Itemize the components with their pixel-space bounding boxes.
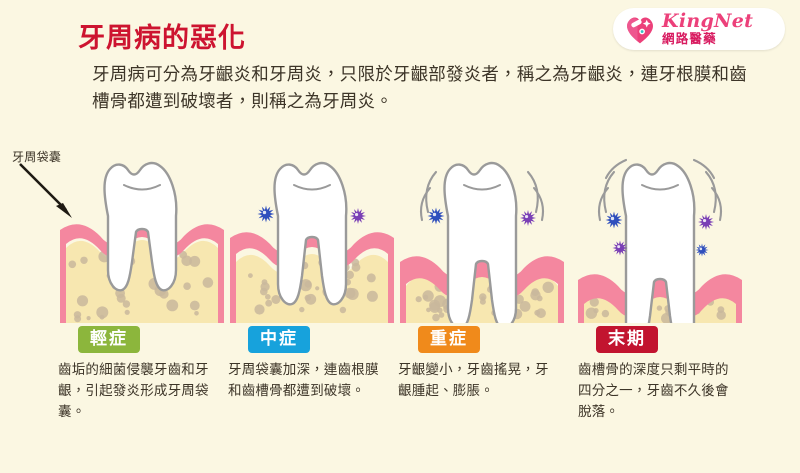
stage-mild: 輕症齒垢的細菌侵襲牙齒和牙齦，引起發炎形成牙周袋囊。 bbox=[52, 138, 232, 468]
logo-subtitle: 網路醫藥 bbox=[662, 33, 753, 46]
tooth-diagram-mild bbox=[52, 138, 232, 323]
tooth-diagram-moderate bbox=[222, 138, 402, 323]
stage-severe: 重症牙齦變小，牙齒搖晃，牙齦腫起、膨脹。 bbox=[392, 138, 572, 468]
stage-caption-moderate: 牙周袋囊加深，連齒根膜和齒槽骨都遭到破壞。 bbox=[228, 360, 383, 402]
stage-moderate: 中症牙周袋囊加深，連齒根膜和齒槽骨都遭到破壞。 bbox=[222, 138, 402, 468]
stage-terminal: 末期齒槽骨的深度只剩平時的四分之一，牙齒不久後會脫落。 bbox=[570, 138, 750, 468]
kingnet-logo[interactable]: KingNet 網路醫藥 bbox=[613, 8, 785, 50]
stage-caption-mild: 齒垢的細菌侵襲牙齒和牙齦，引起發炎形成牙周袋囊。 bbox=[58, 360, 213, 423]
tooth-diagram-terminal bbox=[570, 138, 750, 323]
stage-caption-severe: 牙齦變小，牙齒搖晃，牙齦腫起、膨脹。 bbox=[398, 360, 553, 402]
heart-toothbrush-icon bbox=[623, 13, 657, 45]
stage-badge-mild[interactable]: 輕症 bbox=[78, 326, 140, 353]
page-title: 牙周病的惡化 bbox=[78, 16, 246, 55]
infographic-page: KingNet 網路醫藥 牙周病的惡化 牙周病可分為牙齦炎和牙周炎，只限於牙齦部… bbox=[0, 0, 800, 473]
stage-badge-terminal[interactable]: 末期 bbox=[596, 326, 658, 353]
stage-badge-moderate[interactable]: 中症 bbox=[248, 326, 310, 353]
intro-paragraph: 牙周病可分為牙齦炎和牙周炎，只限於牙齦部發炎者，稱之為牙齦炎，連牙根膜和齒槽骨都… bbox=[92, 62, 752, 116]
stage-caption-terminal: 齒槽骨的深度只剩平時的四分之一，牙齒不久後會脫落。 bbox=[578, 360, 733, 423]
stage-badge-severe[interactable]: 重症 bbox=[418, 326, 480, 353]
logo-brand: KingNet bbox=[662, 12, 753, 31]
tooth-diagram-severe bbox=[392, 138, 572, 323]
